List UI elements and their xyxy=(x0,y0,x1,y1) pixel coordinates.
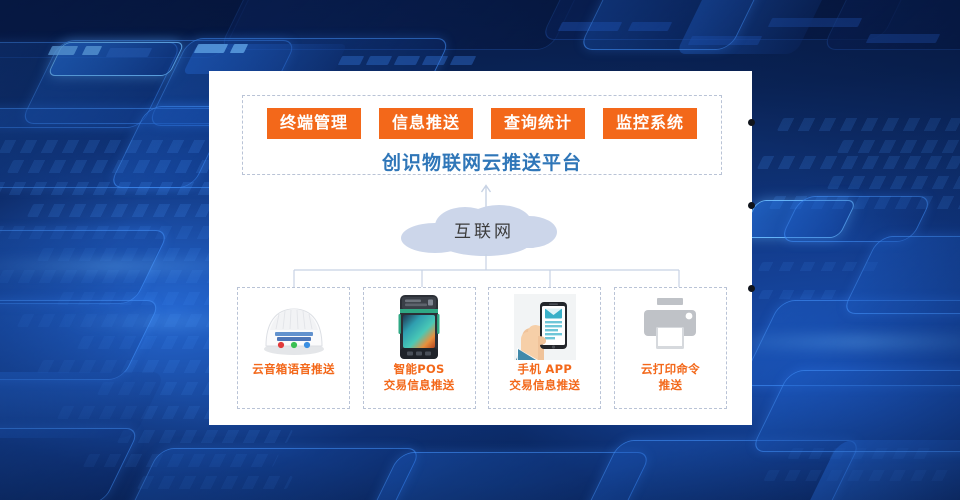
printer-art xyxy=(615,288,726,362)
device-label-line1: 云音箱语音推送 xyxy=(252,362,335,378)
device-card-mobile-app[interactable]: 手机 APP 交易信息推送 xyxy=(488,287,601,409)
device-cards: 云音箱语音推送 xyxy=(237,287,727,409)
device-label-line1: 手机 APP xyxy=(509,362,580,378)
platform-banner: 终端管理 信息推送 查询统计 监控系统 创识物联网云推送平台 xyxy=(242,95,722,175)
platform-title: 创识物联网云推送平台 xyxy=(243,148,721,175)
device-label-line2: 交易信息推送 xyxy=(509,378,580,394)
edge-bullet-3 xyxy=(748,285,755,292)
screenshot-root: 终端管理 信息推送 查询统计 监控系统 创识物联网云推送平台 xyxy=(0,0,960,500)
printer-icon xyxy=(638,297,702,357)
mobile-app-art xyxy=(489,288,600,362)
device-label-line2: 推送 xyxy=(641,378,700,394)
platform-module-buttons: 终端管理 信息推送 查询统计 监控系统 xyxy=(243,108,721,139)
device-card-cloud-printer[interactable]: 云打印命令 推送 xyxy=(614,287,727,409)
edge-bullet-markers xyxy=(748,0,762,500)
device-label-line1: 智能POS xyxy=(384,362,455,378)
module-button-terminal-management[interactable]: 终端管理 xyxy=(267,108,361,139)
device-label-line2: 交易信息推送 xyxy=(384,378,455,394)
edge-bullet-2 xyxy=(748,202,755,209)
device-label-cloud-printer: 云打印命令 推送 xyxy=(641,362,700,394)
module-button-query-statistics[interactable]: 查询统计 xyxy=(491,108,585,139)
internet-label: 互联网 xyxy=(399,217,569,242)
speaker-art xyxy=(238,288,349,362)
internet-cloud: 互联网 xyxy=(399,204,569,256)
device-label-line1: 云打印命令 xyxy=(641,362,700,378)
edge-bullet-1 xyxy=(748,119,755,126)
module-button-monitoring-system[interactable]: 监控系统 xyxy=(603,108,697,139)
device-card-cloud-speaker[interactable]: 云音箱语音推送 xyxy=(237,287,350,409)
speaker-icon xyxy=(257,296,331,358)
device-label-cloud-speaker: 云音箱语音推送 xyxy=(252,362,335,378)
diagram-panel: 终端管理 信息推送 查询统计 监控系统 创识物联网云推送平台 xyxy=(209,71,752,425)
device-label-mobile-app: 手机 APP 交易信息推送 xyxy=(509,362,580,394)
device-card-smart-pos[interactable]: 智能POS 交易信息推送 xyxy=(363,287,476,409)
pos-art xyxy=(364,288,475,362)
hand-phone-icon xyxy=(514,294,576,360)
module-button-message-push[interactable]: 信息推送 xyxy=(379,108,473,139)
device-label-smart-pos: 智能POS 交易信息推送 xyxy=(384,362,455,394)
pos-terminal-icon xyxy=(398,294,440,360)
